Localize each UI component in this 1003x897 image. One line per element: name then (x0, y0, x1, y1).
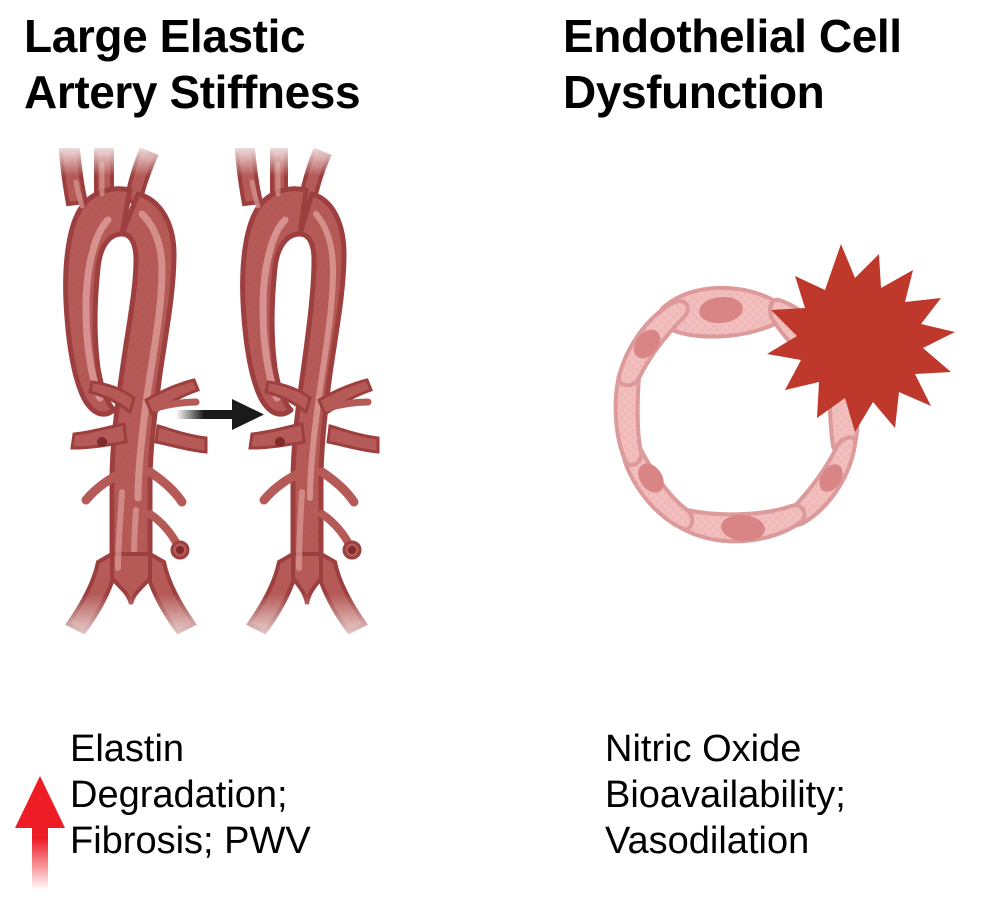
aorta-remodeling-diagram (0, 140, 501, 700)
stiffened-aorta-illustration (214, 142, 389, 682)
aorta-vessel-body-stiffened (237, 150, 344, 562)
endothelial-cell (619, 301, 688, 385)
endothelial-cell (677, 505, 805, 543)
aorta-vessel-body (61, 150, 174, 562)
page-title-left: Large Elastic Artery Stiffness (24, 8, 494, 120)
endothelial-cell-ring-diagram (501, 140, 1003, 700)
endothelial-ring-illustration (579, 232, 999, 592)
panel-endothelial-cell-dysfunction: Endothelial Cell Dysfunction (501, 0, 1003, 897)
page-title-right: Endothelial Cell Dysfunction (563, 8, 1003, 120)
caption-left: Elastin Degradation; Fibrosis; PWV (70, 726, 490, 864)
caption-right: Nitric Oxide Bioavailability; Vasodilati… (605, 726, 1003, 864)
up-arrow-icon (8, 770, 72, 895)
panel-large-elastic-artery-stiffness: Large Elastic Artery Stiffness (0, 0, 501, 897)
damage-starburst-icon (767, 244, 955, 432)
